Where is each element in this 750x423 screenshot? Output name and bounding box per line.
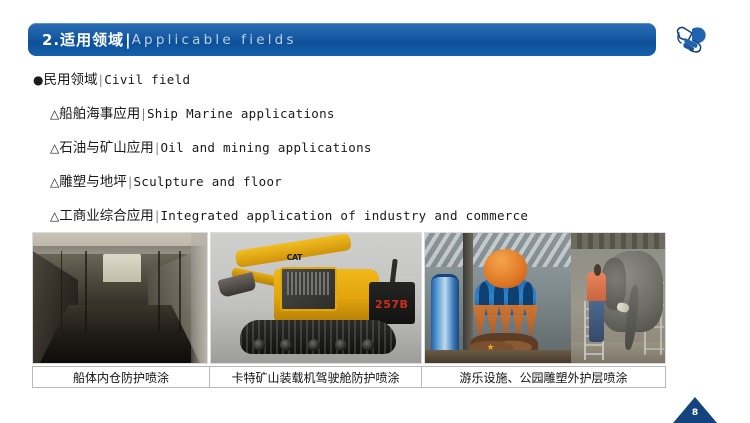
hull-rib — [61, 251, 63, 332]
track-roller — [308, 339, 320, 351]
elephant-sculpture-subphoto — [571, 233, 665, 363]
hall-ceiling — [571, 233, 665, 249]
ship-hold-photo — [32, 232, 208, 364]
bullet-marker: △ — [50, 141, 59, 155]
bullet-line-sculpture-floor: △雕塑与地坪|Sculpture and floor — [50, 175, 282, 190]
handshake-logo-icon — [672, 21, 712, 57]
page-number-badge: 8 — [673, 397, 717, 423]
hull-rib — [158, 251, 160, 332]
cab-grille — [287, 272, 329, 295]
photo-caption: 卡特矿山装载机驾驶舱防护喷涂 — [210, 366, 422, 388]
park-sculpture-photo: ★ — [424, 232, 666, 364]
bullet-marker: ● — [33, 73, 43, 87]
amusement-ride-subphoto: ★ — [425, 233, 571, 363]
ride-arch — [479, 282, 489, 308]
hull-rib — [85, 251, 87, 332]
bullet-line-ship-marine: △船舶海事应用|Ship Marine applications — [50, 107, 335, 122]
bullet-marker: △ — [50, 209, 59, 223]
bullet-text-en: Integrated application of industry and c… — [160, 208, 528, 223]
photo-strip: CAT 257B ★ — [32, 232, 666, 364]
bullet-line-civil-field: ●民用领域|Civil field — [33, 73, 190, 88]
bullet-text-en: Civil field — [104, 72, 190, 87]
bullet-text-cn: 石油与矿山应用 — [59, 140, 154, 156]
glass-elevator-tube — [431, 274, 459, 358]
header-separator: | — [124, 31, 131, 49]
bullet-text-cn: 雕塑与地坪 — [59, 174, 127, 190]
hull-rib — [179, 251, 181, 332]
bullet-line-industry-commerce: △工商业综合应用|Integrated application of indus… — [50, 209, 528, 224]
bullet-text-en: Sculpture and floor — [133, 174, 282, 189]
worker-legs — [589, 298, 604, 342]
cat-loader-photo: CAT 257B — [210, 232, 422, 364]
ride-arch — [523, 282, 533, 308]
hull-outer-edge — [191, 233, 207, 363]
bullet-marker: △ — [50, 107, 59, 121]
octopus-head — [484, 249, 528, 288]
ride-platform — [425, 350, 571, 363]
bullet-marker: △ — [50, 175, 59, 189]
photo-caption: 船体内仓防护喷涂 — [32, 366, 210, 388]
hold-back-wall — [103, 254, 141, 283]
bullet-line-oil-mining: △石油与矿山应用|Oil and mining applications — [50, 141, 372, 156]
cat-brand-label: CAT — [287, 253, 302, 262]
section-header-bar: 2.适用领域 | Applicable fields — [28, 23, 656, 56]
photo-caption-row: 船体内仓防护喷涂 卡特矿山装载机驾驶舱防护喷涂 游乐设施、公园雕塑外护层喷涂 — [32, 366, 666, 388]
bullet-text-en: Ship Marine applications — [147, 106, 335, 121]
header-title-en: Applicable fields — [132, 32, 297, 48]
bullet-text-cn: 民用领域 — [43, 72, 97, 88]
bullet-text-en: Oil and mining applications — [160, 140, 371, 155]
bullet-text-cn: 船舶海事应用 — [59, 106, 140, 122]
bullet-text-cn: 工商业综合应用 — [59, 208, 154, 224]
bullet-separator: | — [140, 106, 147, 121]
photo-caption: 游乐设施、公园雕塑外护层喷涂 — [422, 366, 666, 388]
page-number: 8 — [673, 408, 717, 418]
worker-shirt — [587, 272, 606, 301]
cat-model-label: 257B — [375, 298, 408, 311]
header-title-cn: 2.适用领域 — [42, 29, 124, 50]
